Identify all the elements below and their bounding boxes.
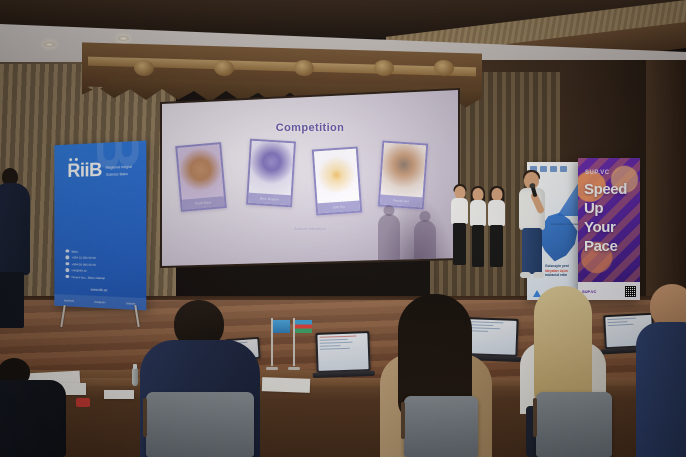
riib-contact-item: info@riib.az [65,268,105,273]
supvc-headline: Speed Up Your Pace [584,180,636,256]
riib-contact-text: +994 50 000 00 00 [72,262,96,267]
riib-social-item: facebook [64,299,74,302]
student-trousers [490,225,503,267]
riib-rollup-banner: RiiB RiiB Regional Intigral Science Baku… [54,141,146,311]
bullet-icon [65,256,68,259]
riib-contact-item: +994 50 000 00 00 [65,262,105,267]
student-shirt [470,200,486,226]
riib-logo: RiiB Regional Intigral Science Baku [67,160,132,181]
supvc-brand-text: SUP.VC [585,170,610,176]
light-blue-flag [271,318,273,366]
host-trousers [0,272,24,328]
laptop[interactable] [315,331,370,373]
slide-card-caption: Blue Dragon [248,193,291,206]
table-flags [262,318,308,378]
recessed-downlight [44,42,55,47]
bullet-icon [65,268,68,272]
presenter-with-microphone [512,172,552,302]
laptop-screen [315,331,370,373]
display-line [608,324,634,327]
slide-card-image [177,144,223,199]
valance-medallion [374,60,394,77]
chair [404,396,478,457]
flag-base [288,367,300,370]
bullet-icon [65,275,68,279]
projection-screen: Competition Plush Bear Blue Dragon Soft … [162,90,458,266]
slide-card-caption-text: Soft Toy [318,200,361,213]
riib-social-item: instagram [94,300,105,304]
juror-left-edge [0,358,66,457]
riib-contact-text: Nizami kuc., Baku shahari [72,275,105,280]
slide-card-image [249,141,294,195]
display-line [319,336,356,339]
student-shirt [488,200,505,226]
display-line [607,321,627,323]
slide-card-caption: Plush Bear [182,196,225,210]
riib-contact-text: Baku [72,249,78,253]
slide-card-caption-text: Plush Bear [182,196,225,210]
riib-logo-subtitle-line2: Science Baku [106,172,132,180]
bullet-icon [65,249,68,252]
slide-title: Competition [162,122,458,134]
riib-logo-subtitle: Regional Intigral Science Baku [106,165,132,180]
display-line [320,347,350,349]
riib-contact-text: info@riib.az [72,268,87,272]
host-suit [0,183,30,275]
student-shirt [451,198,468,224]
display-line [607,318,636,321]
banner-caption: Innovation Science [551,222,578,226]
display-line [320,339,348,341]
supvc-rollup-banner: SUP.VC Speed Up Your Pace SUP.VC [578,158,640,300]
recessed-downlight [118,36,129,41]
valance-medallion [294,60,314,77]
silhouette-head [384,205,395,216]
bullet-icon [65,262,68,266]
slide-card-caption-text: Blue Dragon [248,193,291,206]
slide-card: Plush Bear [175,142,227,212]
riib-contact-item: +994 12 000 00 00 [65,255,105,260]
student-trousers [453,223,466,265]
riib-contact-item: Nizami kuc., Baku shahari [65,274,105,279]
presenter-shoes [520,272,544,279]
slide-card: Soft Toy [312,146,362,215]
host-in-navy-suit [0,168,30,328]
riib-logo-text: RiiB [67,161,102,181]
juror-bald-man [636,284,686,457]
conference-hall-photo: Competition Plush Bear Blue Dragon Soft … [0,0,686,457]
riib-website-url: www.riib.az [54,286,146,294]
azerbaijan-flag [293,318,295,366]
riib-contact-list: Baku +994 12 000 00 00 +994 50 000 00 00… [65,249,105,282]
chair [536,392,612,457]
red-item [76,398,90,407]
slide-card: Blue Dragon [246,139,296,208]
person-silhouette [378,214,400,266]
desk-paper [104,390,134,399]
presenter-jeans [522,228,542,274]
slide-card-caption: Soft Toy [318,200,361,213]
chair [146,392,254,457]
valance-medallion [134,60,154,77]
silhouette-head [420,211,431,222]
display-line [320,345,341,347]
riib-contact-item: Baku [65,249,105,254]
juror-blue-suit [636,322,686,457]
riib-contact-text: +994 12 000 00 00 [72,255,96,259]
valance-medallion [214,60,234,77]
qr-code [625,286,636,297]
juror-suit [0,380,66,457]
valance-medallion [434,60,454,77]
banner-arrow-graphic [557,182,579,216]
desk-paper [262,377,310,393]
slide-card-image [314,149,360,204]
laptop-display [317,333,368,371]
display-line [320,341,353,343]
juror-blonde-hair [534,286,592,408]
slide-card-image [381,143,427,198]
banner-stand-legs [54,305,146,329]
flag-base [266,367,278,370]
student-trousers [472,225,484,267]
water-bottle [132,368,138,386]
